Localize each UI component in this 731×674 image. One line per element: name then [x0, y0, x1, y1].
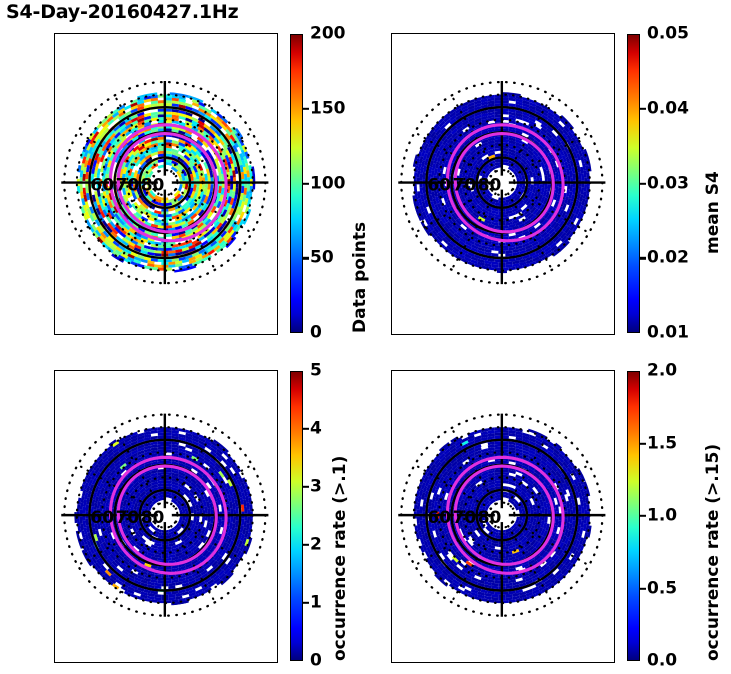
colorbar-tick-mark — [640, 587, 646, 589]
panel-occurrence-rate-gt-015: 607080 — [391, 370, 615, 663]
colorbar-tick-mark — [640, 257, 646, 259]
colorbar-tick-mark — [303, 108, 309, 110]
colorbar-tick-mark — [640, 182, 646, 184]
colorbar-tick-mark — [303, 182, 309, 184]
polar-plot-occurrence-rate-gt-015: 607080 — [392, 371, 613, 661]
colorbar-gradient — [290, 34, 303, 333]
colorbar-gradient — [290, 371, 303, 661]
colorbar-data-points[interactable]: 200150100500 Data points — [290, 34, 303, 333]
figure-title: S4-Day-20160427.1Hz — [6, 1, 238, 23]
axes-frame: 607080 — [391, 33, 615, 335]
polar-plot-mean-s4: 607080 — [392, 34, 613, 333]
colorbar-tick-label: 0.0 — [647, 653, 677, 670]
colorbar-tick-label: 0.01 — [647, 325, 689, 342]
colorbar-tick-label: 200 — [310, 26, 346, 43]
svg-text:70: 70 — [453, 508, 477, 528]
colorbar-label: occurrence rate (>.15) — [705, 444, 722, 661]
colorbar-label: occurrence rate (>.1) — [332, 456, 349, 661]
colorbar-label: mean S4 — [705, 171, 722, 254]
panel-mean-s4: 607080 — [391, 33, 615, 335]
colorbar-tick-label: 5 — [310, 363, 322, 380]
colorbar-occurrence-rate-gt-01[interactable]: 543210 occurrence rate (>.1) — [290, 371, 303, 661]
axes-frame: 607080 — [54, 33, 278, 335]
svg-text:60: 60 — [427, 176, 451, 196]
svg-text:80: 80 — [478, 508, 502, 528]
colorbar-tick-label: 0.02 — [647, 250, 689, 267]
colorbar-tick-mark — [303, 428, 309, 430]
colorbar-tick-label: 3 — [310, 479, 322, 496]
colorbar-tick-mark — [303, 602, 309, 604]
panel-data-points: 607080 — [54, 33, 278, 335]
colorbar-gradient — [627, 34, 640, 333]
colorbar-tick-label: 0.5 — [647, 580, 677, 597]
colorbar-tick-label: 100 — [310, 175, 346, 192]
colorbar-tick-label: 1 — [310, 595, 322, 612]
colorbar-occurrence-rate-gt-015[interactable]: 2.01.51.00.50.0 occurrence rate (>.15) — [627, 371, 640, 661]
colorbar-tick-label: 0.03 — [647, 175, 689, 192]
colorbar-tick-label: 0.05 — [647, 26, 689, 43]
colorbar-tick-label: 2.0 — [647, 363, 677, 380]
colorbar-tick-mark — [640, 108, 646, 110]
panel-occurrence-rate-gt-01: 607080 — [54, 370, 278, 663]
colorbar-gradient — [627, 371, 640, 661]
svg-text:60: 60 — [427, 508, 451, 528]
colorbar-label: Data points — [352, 222, 369, 333]
polar-plot-occurrence-rate-gt-01: 607080 — [55, 371, 276, 661]
colorbar-tick-label: 1.0 — [647, 508, 677, 525]
colorbar-tick-mark — [303, 257, 309, 259]
colorbar-mean-s4[interactable]: 0.050.040.030.020.01 mean S4 — [627, 34, 640, 333]
colorbar-tick-label: 0.04 — [647, 100, 689, 117]
figure-root: S4-Day-20160427.1Hz 607080 200150100500 … — [0, 0, 731, 674]
svg-text:70: 70 — [453, 176, 477, 196]
colorbar-tick-mark — [303, 486, 309, 488]
colorbar-tick-mark — [640, 515, 646, 517]
polar-plot-data-points: 607080 — [55, 34, 276, 333]
svg-text:70: 70 — [116, 508, 140, 528]
svg-text:60: 60 — [90, 508, 114, 528]
colorbar-tick-label: 150 — [310, 100, 346, 117]
svg-text:70: 70 — [116, 176, 140, 196]
colorbar-tick-label: 0 — [310, 653, 322, 670]
colorbar-tick-label: 50 — [310, 250, 334, 267]
svg-text:80: 80 — [141, 508, 165, 528]
svg-text:80: 80 — [478, 176, 502, 196]
colorbar-tick-mark — [303, 544, 309, 546]
svg-text:60: 60 — [90, 176, 114, 196]
colorbar-tick-label: 4 — [310, 421, 322, 438]
svg-text:80: 80 — [141, 176, 165, 196]
axes-frame: 607080 — [54, 370, 278, 663]
colorbar-tick-mark — [640, 442, 646, 444]
axes-frame: 607080 — [391, 370, 615, 663]
colorbar-tick-label: 2 — [310, 537, 322, 554]
colorbar-tick-label: 1.5 — [647, 435, 677, 452]
colorbar-tick-label: 0 — [310, 325, 322, 342]
